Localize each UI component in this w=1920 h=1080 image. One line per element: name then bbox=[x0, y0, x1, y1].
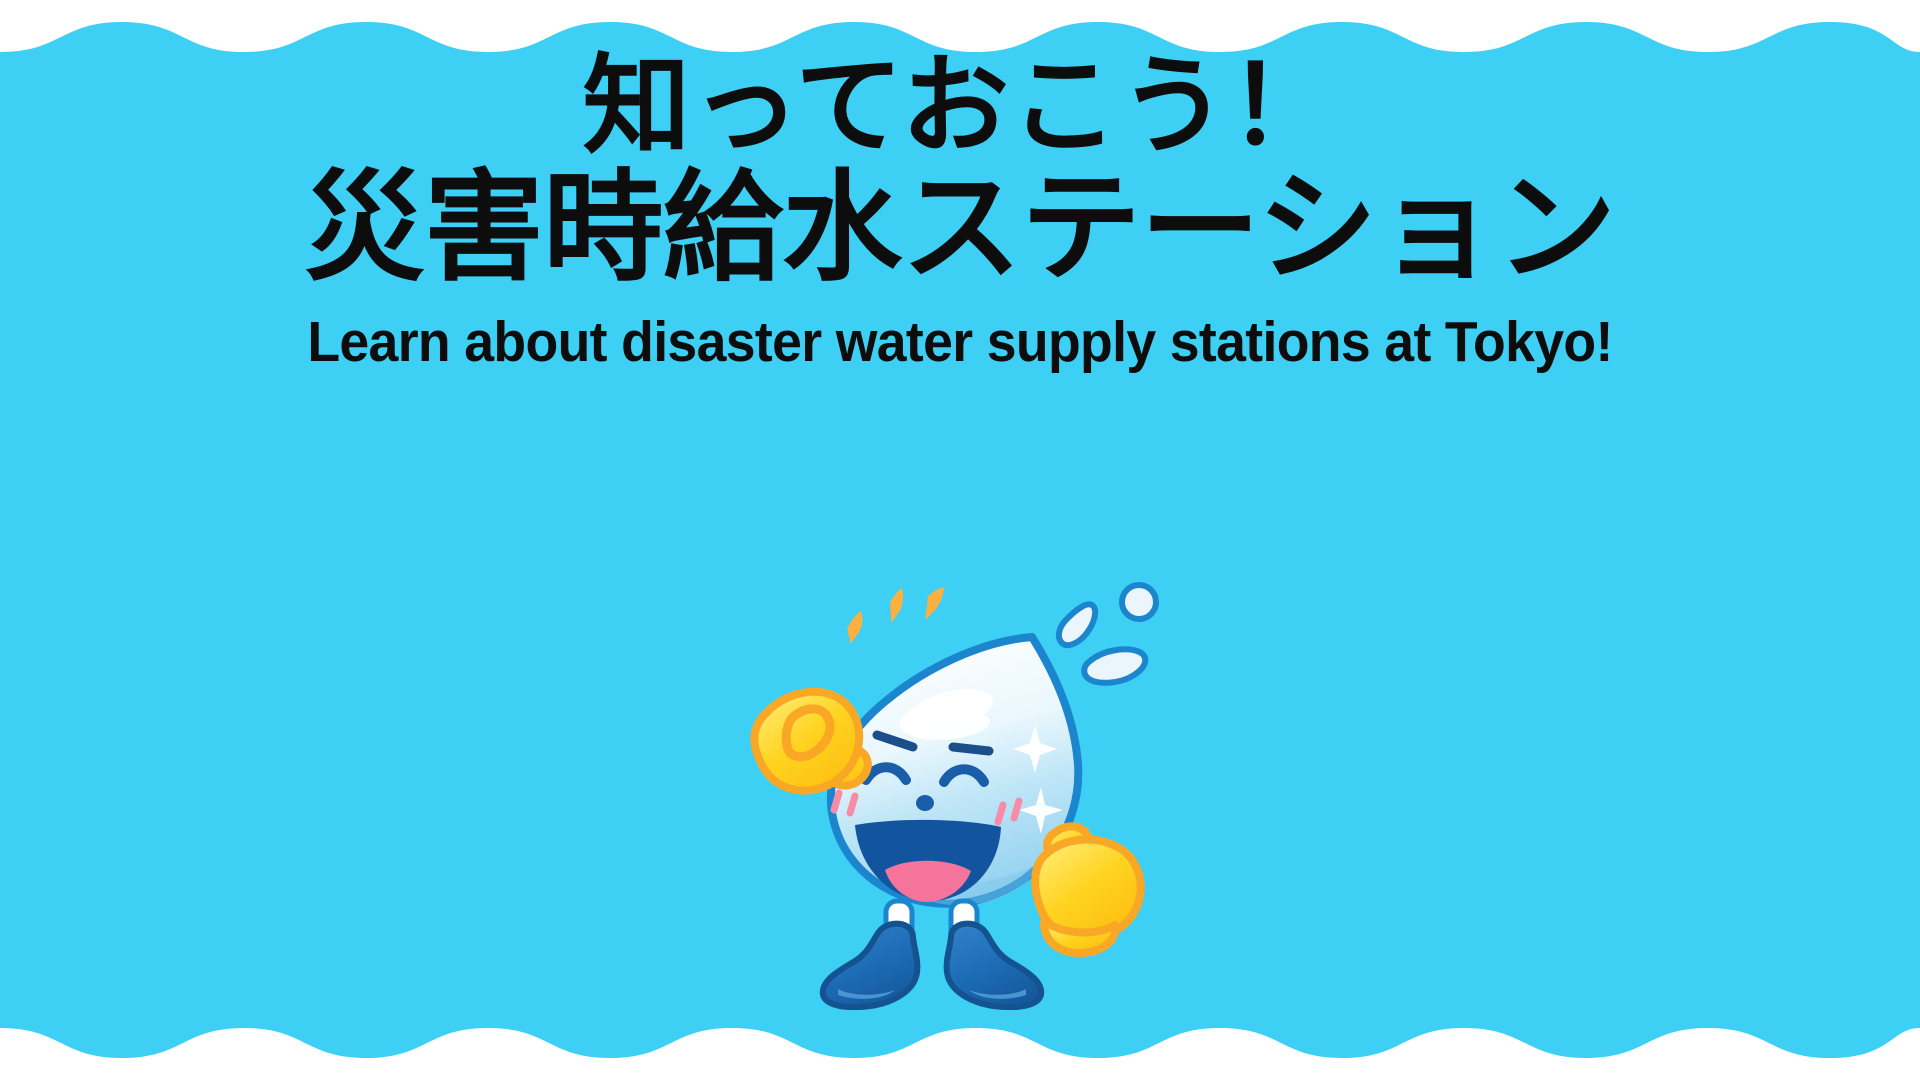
shoes bbox=[823, 924, 1041, 1007]
left-boxing-glove-icon bbox=[754, 692, 867, 791]
poster-canvas: 知っておこう！ 災害時給水ステーション Learn about disaster… bbox=[0, 0, 1920, 1080]
headline-block: 知っておこう！ 災害時給水ステーション Learn about disaster… bbox=[0, 0, 1920, 372]
water-drop-mascot bbox=[735, 565, 1165, 1010]
subtitle-english: Learn about disaster water supply statio… bbox=[58, 291, 1863, 373]
right-boxing-glove-icon bbox=[1035, 826, 1141, 953]
emphasis-lines-icon bbox=[845, 585, 944, 643]
title-line-1: 知っておこう！ bbox=[0, 0, 1920, 162]
title-line-2: 災害時給水ステーション bbox=[0, 162, 1920, 290]
nose bbox=[916, 795, 934, 811]
